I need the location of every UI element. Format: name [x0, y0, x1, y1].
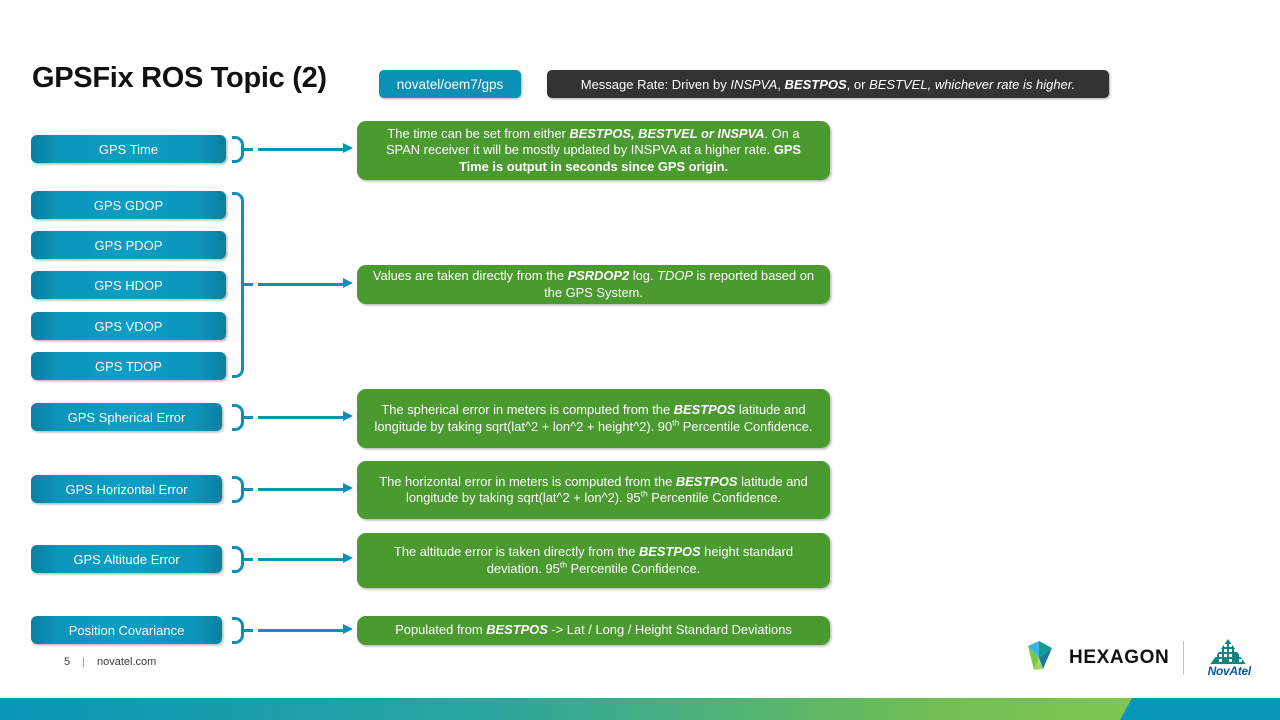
- field-pill-position-covariance[interactable]: Position Covariance: [31, 616, 222, 644]
- brace-altitude: [232, 546, 244, 573]
- arrow-line-dop-group: [258, 283, 344, 286]
- arrow-line-covariance: [258, 629, 344, 632]
- field-pill-gps-hdop[interactable]: GPS HDOP: [31, 271, 226, 299]
- field-pill-gps-altitude-error[interactable]: GPS Altitude Error: [31, 545, 222, 573]
- field-pill-label: GPS TDOP: [95, 359, 162, 374]
- field-pill-gps-vdop[interactable]: GPS VDOP: [31, 312, 226, 340]
- brace-gps-time: [232, 136, 244, 163]
- arrow-line-gps-time: [258, 148, 344, 151]
- arrow-head-gps-time: [343, 143, 353, 153]
- brace-nub-covariance: [244, 629, 253, 632]
- description-text: Populated from BESTPOS -> Lat / Long / H…: [395, 622, 792, 639]
- description-box-position-covariance: Populated from BESTPOS -> Lat / Long / H…: [357, 616, 830, 645]
- description-box-altitude-error: The altitude error is taken directly fro…: [357, 533, 830, 588]
- brand-divider: [1183, 641, 1184, 675]
- arrow-head-covariance: [343, 624, 353, 634]
- arrow-head-horizontal: [343, 483, 353, 493]
- field-pill-gps-spherical-error[interactable]: GPS Spherical Error: [31, 403, 222, 431]
- arrow-line-horizontal: [258, 488, 344, 491]
- brace-covariance: [232, 617, 244, 644]
- bottom-accent-bar-cap: [1120, 698, 1280, 720]
- field-pill-label: GPS Altitude Error: [73, 552, 179, 567]
- field-pill-label: GPS VDOP: [95, 319, 163, 334]
- bottom-accent-bar-gradient: [0, 698, 1280, 720]
- brace-nub-gps-time: [244, 148, 253, 151]
- description-text: The horizontal error in meters is comput…: [371, 474, 816, 507]
- field-pill-gps-horizontal-error[interactable]: GPS Horizontal Error: [31, 475, 222, 503]
- arrow-head-spherical: [343, 411, 353, 421]
- field-pill-label: GPS HDOP: [94, 278, 163, 293]
- brace-nub-horizontal: [244, 488, 253, 491]
- description-text: Values are taken directly from the PSRDO…: [371, 268, 816, 301]
- bottom-accent-bar: [0, 698, 1280, 720]
- field-pill-gps-pdop[interactable]: GPS PDOP: [31, 231, 226, 259]
- description-text: The time can be set from either BESTPOS,…: [371, 126, 816, 176]
- brand-block: HEXAGON: [1026, 636, 1258, 680]
- brace-spherical: [232, 404, 244, 431]
- message-rate-banner: Message Rate: Driven by INSPVA, BESTPOS,…: [547, 70, 1109, 98]
- brace-nub-dop-group: [244, 283, 253, 286]
- brace-nub-spherical: [244, 416, 253, 419]
- field-pill-label: GPS Spherical Error: [68, 410, 186, 425]
- hexagon-logo: HEXAGON: [1026, 639, 1169, 678]
- description-text: The spherical error in meters is compute…: [371, 402, 816, 435]
- novatel-logo: NovAtel: [1198, 636, 1258, 680]
- brace-nub-altitude: [244, 558, 253, 561]
- description-text: The altitude error is taken directly fro…: [371, 544, 816, 577]
- arrow-line-spherical: [258, 416, 344, 419]
- message-rate-text: Message Rate: Driven by INSPVA, BESTPOS,…: [581, 77, 1075, 92]
- field-pill-gps-gdop[interactable]: GPS GDOP: [31, 191, 226, 219]
- field-pill-gps-time[interactable]: GPS Time: [31, 135, 226, 163]
- field-pill-label: GPS GDOP: [94, 198, 163, 213]
- description-box-gps-time: The time can be set from either BESTPOS,…: [357, 121, 830, 180]
- description-box-spherical-error: The spherical error in meters is compute…: [357, 389, 830, 448]
- footer-separator: |: [82, 656, 85, 668]
- arrow-line-altitude: [258, 558, 344, 561]
- footer-site: novatel.com: [97, 656, 156, 668]
- topic-badge: novatel/oem7/gps: [379, 70, 521, 98]
- novatel-wordmark: NovAtel: [1202, 664, 1256, 678]
- brace-horizontal: [232, 476, 244, 503]
- arrow-head-altitude: [343, 553, 353, 563]
- page-number: 5: [64, 656, 70, 668]
- field-pill-label: GPS Horizontal Error: [65, 482, 187, 497]
- page-title: GPSFix ROS Topic (2): [32, 62, 327, 95]
- hexagon-mark-icon: [1026, 639, 1060, 678]
- description-box-dop: Values are taken directly from the PSRDO…: [357, 265, 830, 304]
- topic-badge-label: novatel/oem7/gps: [397, 77, 504, 92]
- footer-meta: 5 | novatel.com: [64, 656, 156, 668]
- description-box-horizontal-error: The horizontal error in meters is comput…: [357, 461, 830, 519]
- field-pill-label: Position Covariance: [69, 623, 185, 638]
- field-pill-label: GPS Time: [99, 142, 158, 157]
- field-pill-gps-tdop[interactable]: GPS TDOP: [31, 352, 226, 380]
- arrow-head-dop-group: [343, 278, 353, 288]
- field-pill-label: GPS PDOP: [95, 238, 163, 253]
- brace-dop-group: [232, 192, 244, 378]
- hexagon-wordmark: HEXAGON: [1069, 647, 1169, 669]
